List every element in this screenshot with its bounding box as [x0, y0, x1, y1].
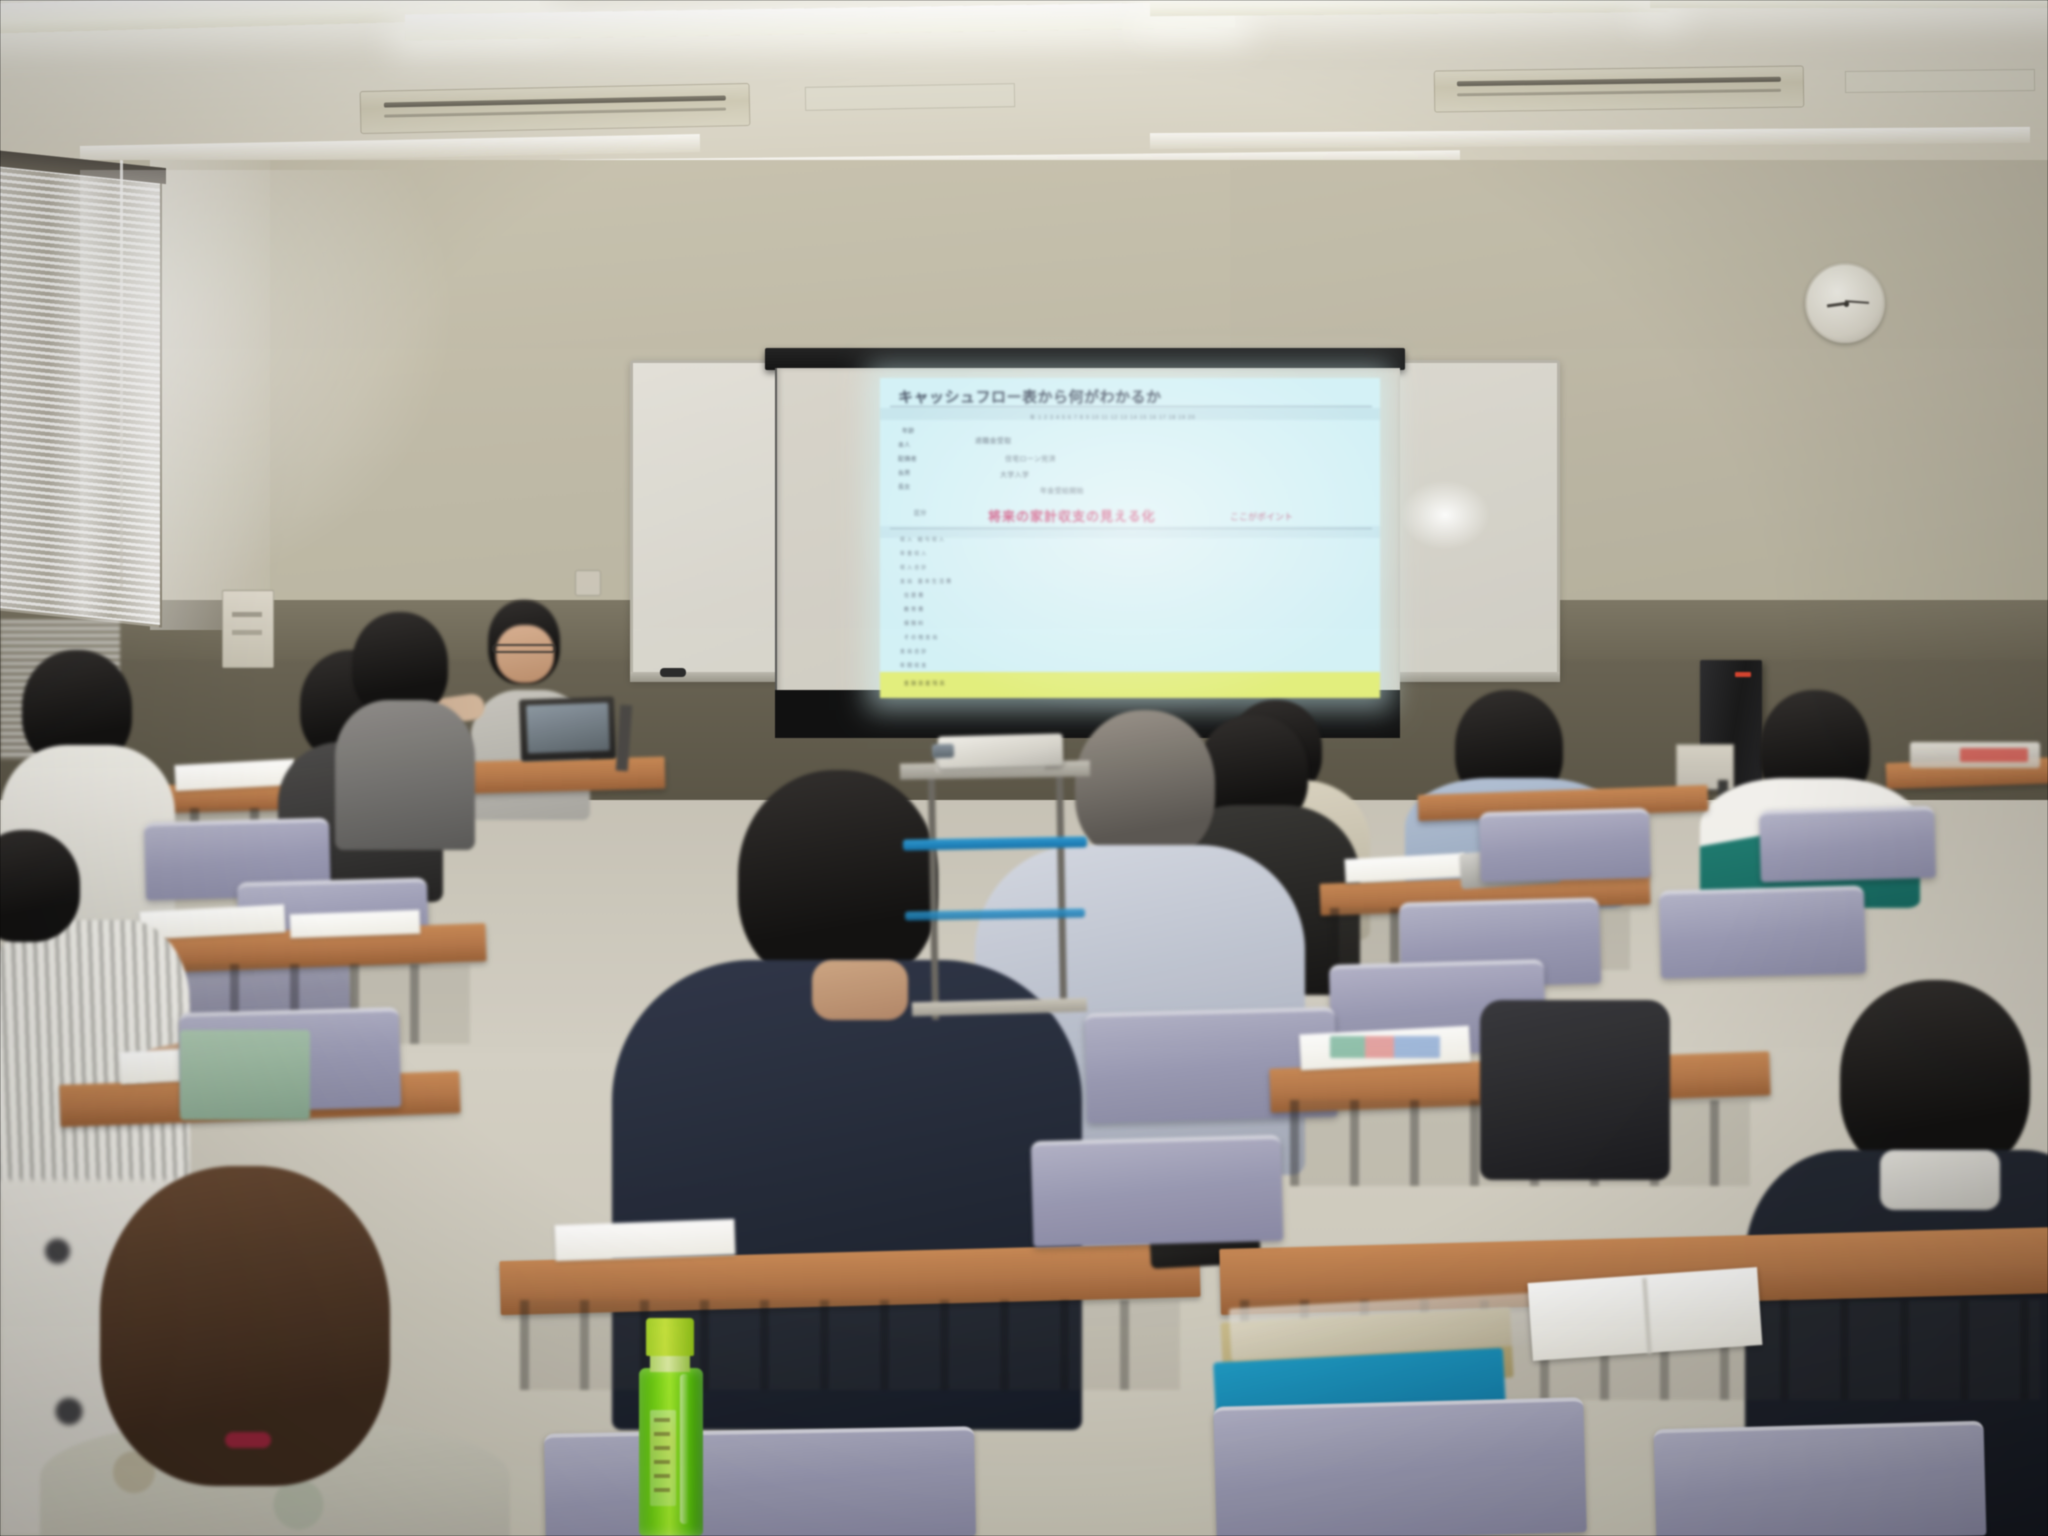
slide-table-row-9: 年間収支 [900, 662, 928, 669]
slide-table-row-8: 支出合計 [900, 648, 928, 655]
hair-clip [225, 1432, 271, 1448]
slide-header-row: 年 1 2 3 4 5 6 7 8 9 10 11 12 13 14 15 16… [1030, 414, 1375, 421]
slide-event-note-0: 退職金受取 [975, 436, 1012, 446]
attendee-body [335, 700, 475, 850]
red-label-on-tray [1960, 748, 2028, 762]
slide-highlight-row-label: 金融資産残高 [904, 680, 947, 687]
attendee-neck [812, 960, 908, 1020]
clock-center [1844, 302, 1849, 307]
slide-side-label-0: 年齢 [902, 426, 915, 435]
slide-rule-top [890, 406, 1372, 407]
slide-red-callout: 将来の家計収支の見える化 [988, 506, 1156, 525]
green-tea-bottle[interactable] [636, 1318, 706, 1536]
table-legs [520, 1300, 1180, 1390]
slide-side-label-3: 長男 [898, 468, 911, 477]
presenter-laptop-screen [526, 703, 610, 754]
slide-event-note-2: 大学入学 [1000, 470, 1029, 480]
window-light-bleed [80, 170, 500, 640]
bottle-label-text [654, 1418, 670, 1498]
slide-table-row-7: その他支出 [904, 634, 940, 641]
bottle-highlight [680, 1374, 689, 1524]
chair[interactable] [1654, 1421, 1987, 1536]
bottle-cap[interactable] [646, 1318, 694, 1356]
slide-event-note-3: 年金受給開始 [1040, 486, 1084, 496]
attendee-collar [1880, 1150, 2000, 1210]
slide-table-row-5: 教育費 [904, 606, 925, 613]
handout-papers[interactable] [554, 1219, 735, 1261]
chair[interactable] [1213, 1397, 1586, 1536]
slide-red-callout-sub: ここがポイント [1230, 510, 1293, 523]
chair[interactable] [544, 1426, 976, 1536]
ac-vent-right-icon [1434, 65, 1805, 112]
attendee-head [738, 770, 938, 988]
whiteboard-glare [1400, 480, 1490, 550]
slide-side-label-2: 配偶者 [898, 454, 917, 463]
colorful-diagram-on-handout [1330, 1036, 1440, 1058]
slide-side-label-5: 区分 [914, 508, 927, 517]
attendee-head [1075, 710, 1215, 862]
presenter-face [496, 625, 554, 683]
wall-outlet[interactable] [575, 570, 601, 596]
backpack[interactable] [1480, 1000, 1670, 1180]
speaker-power-led-icon [1735, 672, 1751, 677]
slide-side-label-1: 本人 [898, 440, 911, 449]
slide-highlight-row: 金融資産残高 [880, 672, 1380, 698]
ceiling-tile-1 [805, 83, 1015, 111]
ac-vent-left-icon [360, 83, 751, 134]
slide-table-row-6: 保険料 [904, 620, 925, 627]
tote-bag[interactable] [180, 1030, 310, 1120]
projector[interactable] [938, 733, 1064, 768]
chair[interactable] [1479, 808, 1651, 882]
ceiling-tile-2 [1845, 69, 2035, 93]
wall-control-panel[interactable] [222, 590, 274, 668]
chair[interactable] [1031, 1135, 1284, 1248]
slide-table-row-3: 支出 基本生活費 [900, 578, 953, 585]
slide-side-label-4: 長女 [898, 482, 911, 491]
handout-papers[interactable] [290, 910, 421, 939]
chair[interactable] [1659, 885, 1866, 978]
projected-slide: キャッシュフロー表から何がわかるか 年 1 2 3 4 5 6 7 8 9 10… [880, 378, 1380, 698]
whiteboard-marker[interactable] [660, 668, 686, 677]
slide-table-row-1: 年金収入 [900, 550, 928, 557]
ceiling-light-4 [1650, 0, 2048, 8]
screen-housing [765, 348, 1405, 370]
slide-event-note-1: 住宅ローン完済 [1005, 454, 1056, 464]
slide-title: キャッシュフロー表から何がわかるか [898, 386, 1368, 407]
wall-panel-slot-1 [232, 612, 262, 617]
wall-clock [1805, 263, 1885, 343]
slide-table-row-0: 収入 給与収入 [900, 536, 946, 543]
slide-table-row-4: 住居費 [904, 592, 925, 599]
projector-lens-icon [932, 744, 954, 759]
presenter-glasses-icon [492, 644, 556, 653]
chair[interactable] [1759, 806, 1936, 883]
seminar-room-photo: キャッシュフロー表から何がわかるか 年 1 2 3 4 5 6 7 8 9 10… [0, 0, 2048, 1536]
slide-table-row-2: 収入合計 [900, 564, 928, 571]
slide-band-mid [880, 526, 1380, 538]
wall-panel-slot-2 [232, 630, 262, 635]
